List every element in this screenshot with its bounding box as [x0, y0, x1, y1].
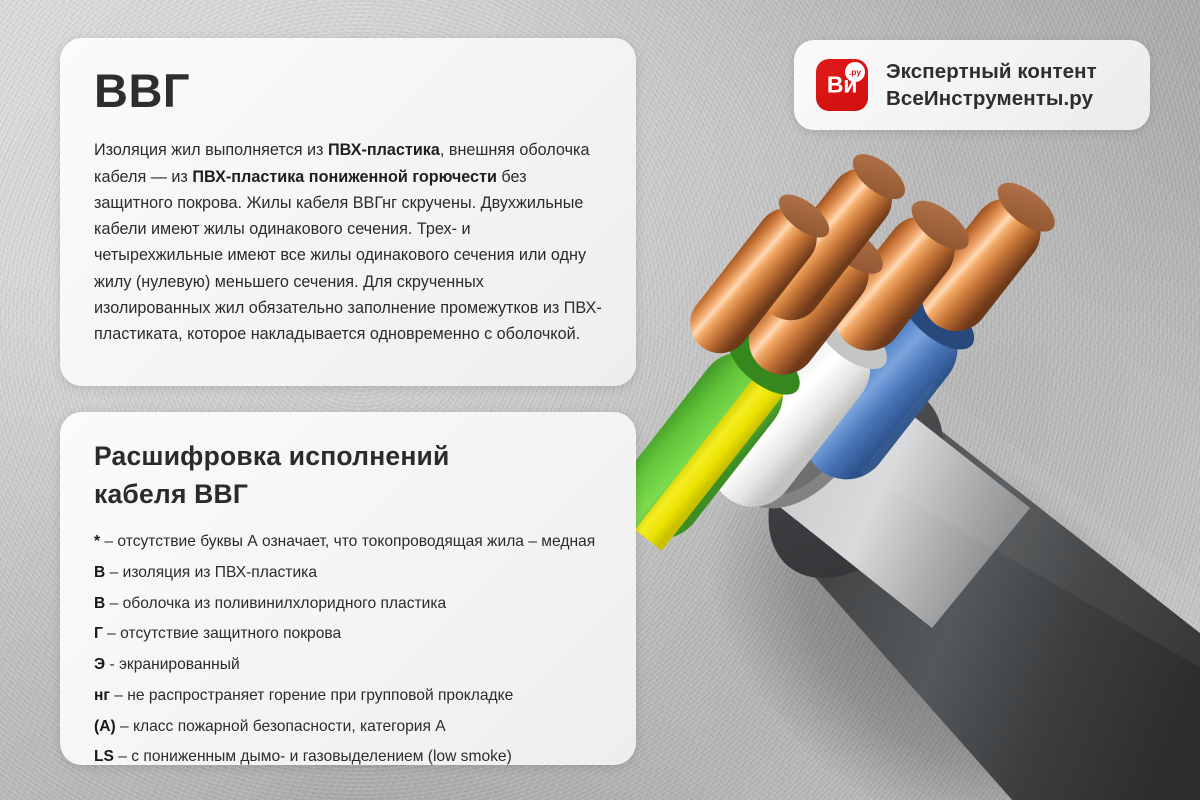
decode-item-text: – с пониженным дымо- и газовыделением (l…	[114, 748, 512, 765]
decode-item-text: - экранированный	[105, 656, 240, 673]
decode-item: Г – отсутствие защитного покрова	[94, 619, 602, 650]
brand-badge[interactable]: Ви .ру Экспертный контент ВсеИнструменты…	[794, 40, 1150, 130]
decode-item-key: В	[94, 595, 105, 612]
vseinstrumenty-logo-icon: Ви .ру	[816, 59, 868, 111]
decode-item-key: Г	[94, 625, 103, 642]
decode-item: * – отсутствие буквы А означает, что ток…	[94, 527, 602, 558]
decode-item-text: – изоляция из ПВХ-пластика	[105, 564, 317, 581]
brand-text: Экспертный контент ВсеИнструменты.ру	[886, 58, 1097, 112]
brand-line-2: ВсеИнструменты.ру	[886, 85, 1097, 112]
decode-title-line1: Расшифровка исполнений	[94, 441, 450, 471]
decode-item-text: – отсутствие буквы А означает, что токоп…	[100, 533, 595, 550]
intro-text-run-0: Изоляция жил выполняется из	[94, 141, 328, 159]
decode-title-line2: кабеля ВВГ	[94, 479, 248, 509]
cable-illustration	[560, 120, 1200, 800]
intro-text-run-4: без защитного покрова. Жилы кабеля ВВГнг…	[94, 168, 602, 343]
brand-line-1: Экспертный контент	[886, 58, 1097, 85]
decode-item-key: В	[94, 564, 105, 581]
decode-title: Расшифровка исполнений кабеля ВВГ	[94, 438, 602, 513]
decode-item: нг – не распространяет горение при групп…	[94, 681, 602, 712]
decode-item: LS – с пониженным дымо- и газовыделением…	[94, 742, 602, 773]
decode-item-text: – отсутствие защитного покрова	[103, 625, 341, 642]
decode-item: Э - экранированный	[94, 650, 602, 681]
intro-paragraph: Изоляция жил выполняется из ПВХ-пластика…	[94, 137, 602, 347]
decode-item-key: LS	[94, 748, 114, 765]
decode-item-key: Э	[94, 656, 105, 673]
intro-card: ВВГ Изоляция жил выполняется из ПВХ-плас…	[60, 38, 636, 386]
decode-card: Расшифровка исполнений кабеля ВВГ * – от…	[60, 412, 636, 765]
decode-item: В – оболочка из поливинилхлоридного плас…	[94, 589, 602, 620]
logo-ru-badge: .ру	[845, 62, 865, 82]
decode-list: * – отсутствие буквы А означает, что ток…	[94, 527, 602, 773]
decode-item: В – изоляция из ПВХ-пластика	[94, 558, 602, 589]
decode-item: (А) – класс пожарной безопасности, катег…	[94, 712, 602, 743]
intro-text-run-3: ПВХ-пластика пониженной горючести	[192, 168, 497, 186]
intro-text-run-1: ПВХ-пластика	[328, 141, 440, 159]
decode-item-text: – не распространяет горение при группово…	[110, 687, 513, 704]
decode-item-key: (А)	[94, 718, 116, 735]
decode-item-text: – оболочка из поливинилхлоридного пласти…	[105, 595, 446, 612]
page-title: ВВГ	[94, 66, 602, 115]
decode-item-key: нг	[94, 687, 110, 704]
decode-item-text: – класс пожарной безопасности, категория…	[116, 718, 446, 735]
